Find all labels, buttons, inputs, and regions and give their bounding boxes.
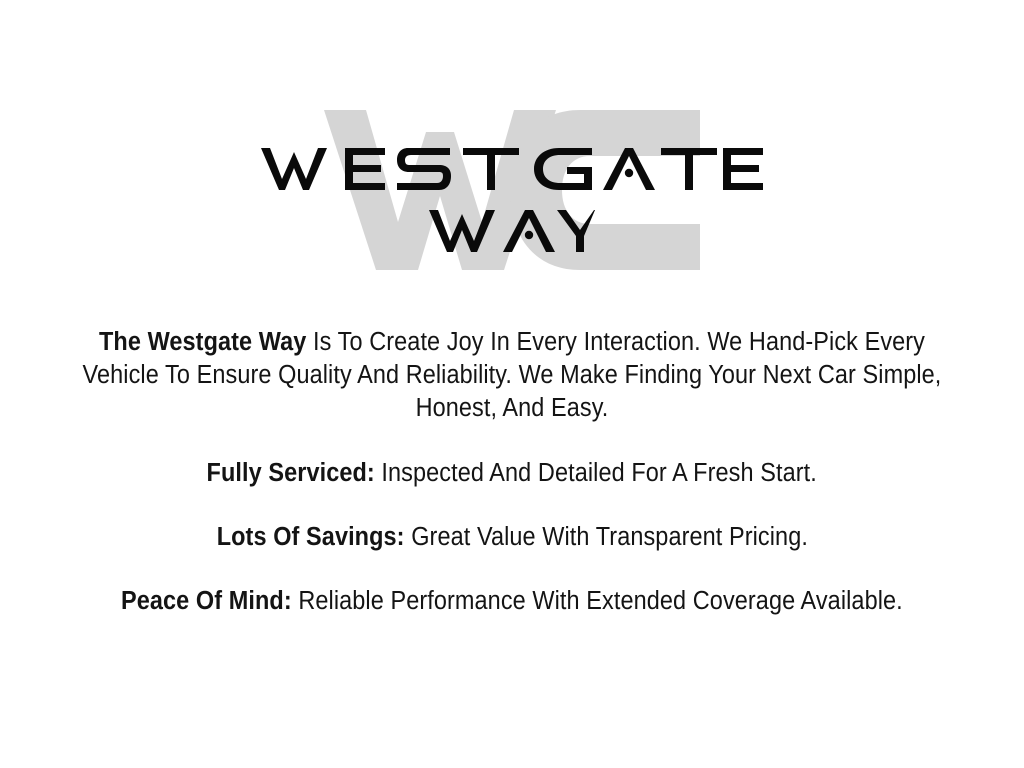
promise-lots-of-savings: Lots Of Savings: Great Value With Transp… [28, 521, 996, 554]
logo-wordmark-way [0, 208, 1024, 254]
promise-peace-of-mind: Peace Of Mind: Reliable Performance With… [28, 585, 996, 618]
promise-label: Lots Of Savings: [216, 523, 404, 551]
promise-text: Inspected And Detailed For A Fresh Start… [375, 459, 817, 487]
promise-label: Fully Serviced: [207, 459, 375, 487]
spacer [28, 554, 996, 585]
intro-paragraph: The Westgate Way Is To Create Joy In Eve… [28, 326, 996, 425]
promise-text: Reliable Performance With Extended Cover… [292, 587, 903, 615]
slide-canvas: The Westgate Way Is To Create Joy In Eve… [0, 0, 1024, 768]
brand-logo-block [0, 100, 1024, 290]
wordmark-group [0, 100, 1024, 290]
promise-fully-serviced: Fully Serviced: Inspected And Detailed F… [28, 457, 996, 490]
spacer [28, 490, 996, 521]
intro-lead: The Westgate Way [99, 328, 306, 356]
promise-label: Peace Of Mind: [121, 587, 292, 615]
logo-wordmark-westgate [0, 146, 1024, 192]
promise-text: Great Value With Transparent Pricing. [404, 523, 807, 551]
spacer [28, 425, 996, 457]
body-content: The Westgate Way Is To Create Joy In Eve… [28, 326, 996, 618]
